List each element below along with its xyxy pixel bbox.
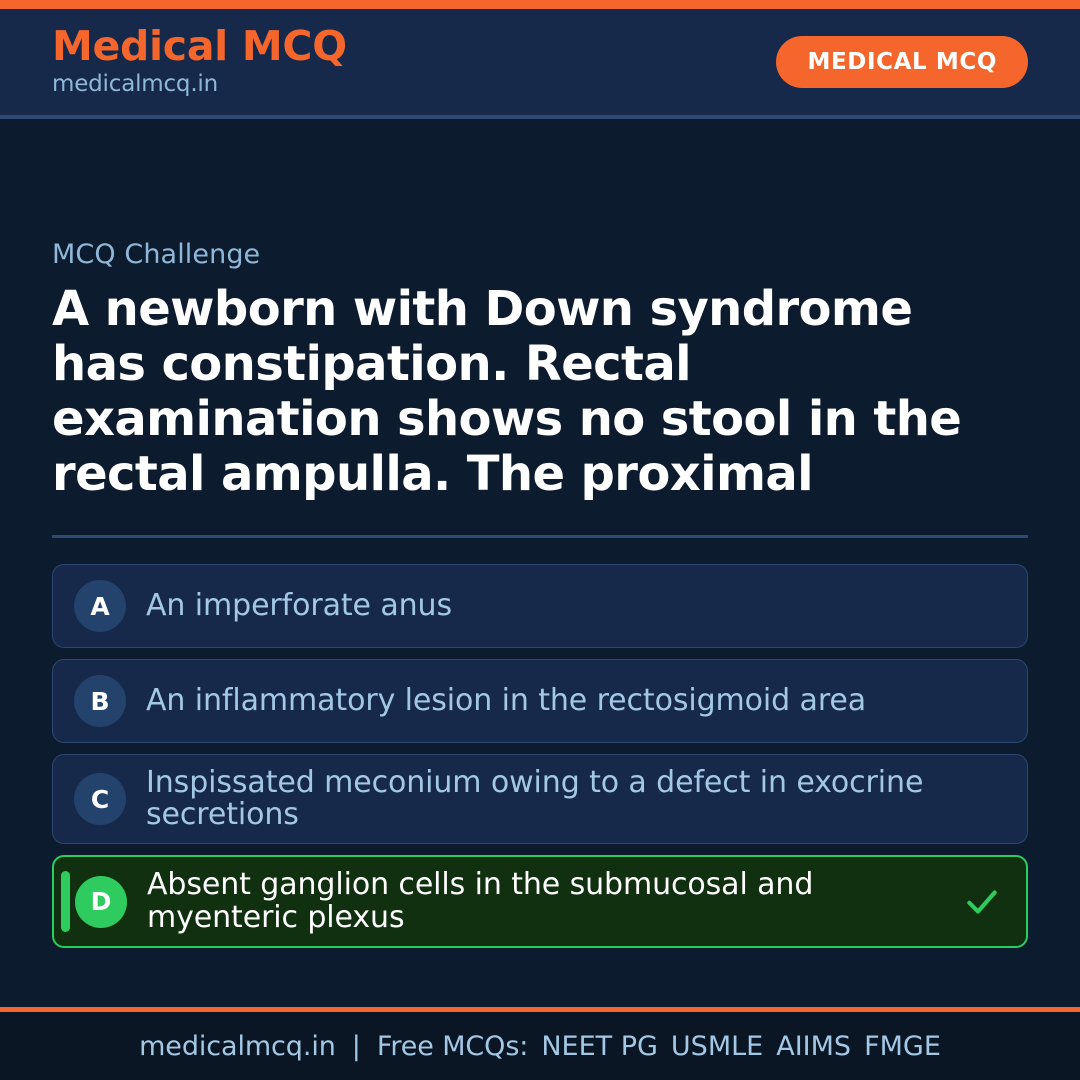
- option-label: An imperforate anus: [146, 590, 951, 622]
- eyebrow-label: MCQ Challenge: [52, 239, 1028, 271]
- footer-exam-usmle: USMLE: [658, 1031, 763, 1062]
- option-label: Absent ganglion cells in the submucosal …: [147, 869, 950, 933]
- main-content: MCQ Challenge A newborn with Down syndro…: [0, 119, 1080, 1007]
- option-label: An inflammatory lesion in the rectosigmo…: [146, 685, 951, 717]
- mcq-card-page: Medical MCQ medicalmcq.in MEDICAL MCQ MC…: [0, 0, 1080, 1080]
- option-letter-badge: B: [74, 675, 126, 727]
- brand-block: Medical MCQ medicalmcq.in: [52, 25, 347, 99]
- page-footer: medicalmcq.in | Free MCQs: NEET PG USMLE…: [0, 1012, 1080, 1080]
- options-list: AAn imperforate anusBAn inflammatory les…: [52, 564, 1028, 947]
- footer-site: medicalmcq.in: [139, 1031, 336, 1062]
- option-label: Inspissated meconium owing to a defect i…: [146, 767, 951, 831]
- footer-wrap: medicalmcq.in | Free MCQs: NEET PG USMLE…: [0, 1007, 1080, 1080]
- footer-exam-neetpg: NEET PG: [528, 1031, 658, 1062]
- footer-separator: |: [336, 1031, 377, 1062]
- option-a[interactable]: AAn imperforate anus: [52, 564, 1028, 648]
- question-divider: [52, 535, 1028, 538]
- question-text: A newborn with Down syndrome has constip…: [52, 282, 1012, 501]
- option-d[interactable]: DAbsent ganglion cells in the submucosal…: [52, 855, 1028, 947]
- correct-accent-bar: [61, 871, 70, 931]
- top-accent-bar: [0, 0, 1080, 9]
- option-b[interactable]: BAn inflammatory lesion in the rectosigm…: [52, 659, 1028, 743]
- page-header: Medical MCQ medicalmcq.in MEDICAL MCQ: [0, 9, 1080, 119]
- footer-exam-fmge: FMGE: [851, 1031, 941, 1062]
- brand-title: Medical MCQ: [52, 25, 347, 68]
- brand-subtitle: medicalmcq.in: [52, 70, 347, 99]
- option-letter-badge: C: [74, 773, 126, 825]
- footer-prefix: Free MCQs:: [377, 1031, 528, 1062]
- check-icon: [960, 883, 1004, 921]
- option-letter-badge: A: [74, 580, 126, 632]
- header-badge: MEDICAL MCQ: [776, 36, 1028, 88]
- option-letter-badge: D: [75, 876, 127, 928]
- option-c[interactable]: CInspissated meconium owing to a defect …: [52, 754, 1028, 844]
- footer-exam-aiims: AIIMS: [763, 1031, 851, 1062]
